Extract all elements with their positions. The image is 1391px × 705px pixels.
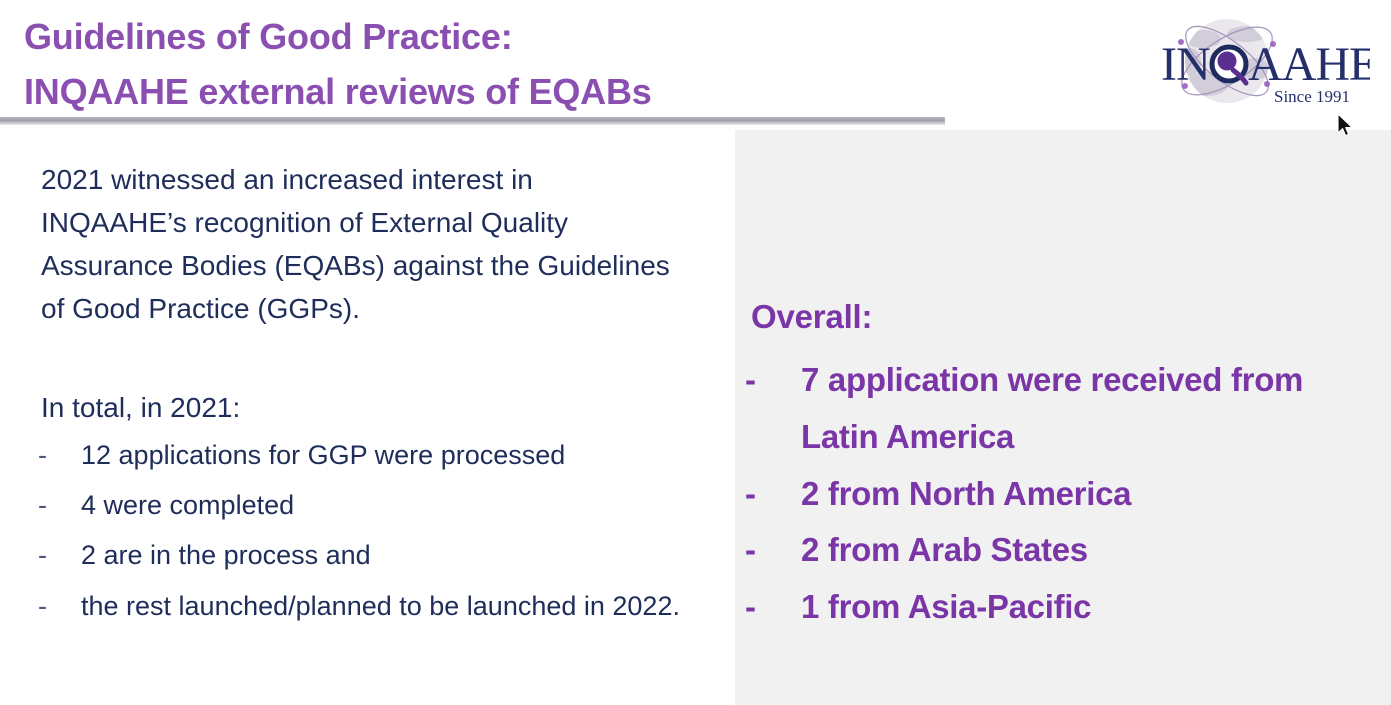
list-item-label: 7 application were received from Latin A… [801, 352, 1381, 466]
title-divider-rule [0, 117, 945, 125]
in-total-bullet-list: - 12 applications for GGP were processed… [38, 430, 718, 631]
list-item: - 2 are in the process and [38, 530, 718, 580]
inqaahe-logo: IN AAHE Since 1991 [1155, 14, 1370, 114]
list-item: - 12 applications for GGP were processed [38, 430, 718, 480]
overall-bullet-list: - 7 application were received from Latin… [745, 352, 1381, 636]
list-item-label: the rest launched/planned to be launched… [81, 581, 718, 631]
bullet-dash-marker: - [38, 530, 81, 580]
bullet-dash-marker: - [38, 581, 81, 631]
list-item: - 4 were completed [38, 480, 718, 530]
overall-summary-panel: Overall: - 7 application were received f… [735, 130, 1391, 705]
list-item: - 1 from Asia-Pacific [745, 579, 1381, 636]
list-item-label: 12 applications for GGP were processed [81, 430, 718, 480]
bullet-dash-marker: - [745, 466, 801, 523]
slide-header: Guidelines of Good Practice: INQAAHE ext… [0, 0, 1391, 128]
svg-text:IN: IN [1161, 38, 1210, 91]
left-content-area: 2021 witnessed an increased interest in … [0, 130, 735, 705]
list-item: - 2 from Arab States [745, 522, 1381, 579]
overall-heading: Overall: [751, 298, 872, 336]
bullet-dash-marker: - [38, 430, 81, 480]
intro-paragraph: 2021 witnessed an increased interest in … [41, 158, 681, 330]
svg-text:AAHE: AAHE [1248, 38, 1370, 91]
list-item-label: 2 are in the process and [81, 530, 718, 580]
bullet-dash-marker: - [38, 480, 81, 530]
presentation-slide: Guidelines of Good Practice: INQAAHE ext… [0, 0, 1391, 705]
list-item-label: 4 were completed [81, 480, 718, 530]
list-item-label: 2 from North America [801, 466, 1381, 523]
svg-text:Since 1991: Since 1991 [1274, 87, 1350, 106]
bullet-dash-marker: - [745, 579, 801, 636]
in-total-label: In total, in 2021: [41, 387, 240, 429]
list-item-label: 1 from Asia-Pacific [801, 579, 1381, 636]
list-item: - the rest launched/planned to be launch… [38, 581, 718, 631]
page-title: Guidelines of Good Practice: INQAAHE ext… [24, 10, 924, 119]
list-item-label: 2 from Arab States [801, 522, 1381, 579]
list-item: - 2 from North America [745, 466, 1381, 523]
bullet-dash-marker: - [745, 352, 801, 409]
list-item: - 7 application were received from Latin… [745, 352, 1381, 466]
bullet-dash-marker: - [745, 522, 801, 579]
